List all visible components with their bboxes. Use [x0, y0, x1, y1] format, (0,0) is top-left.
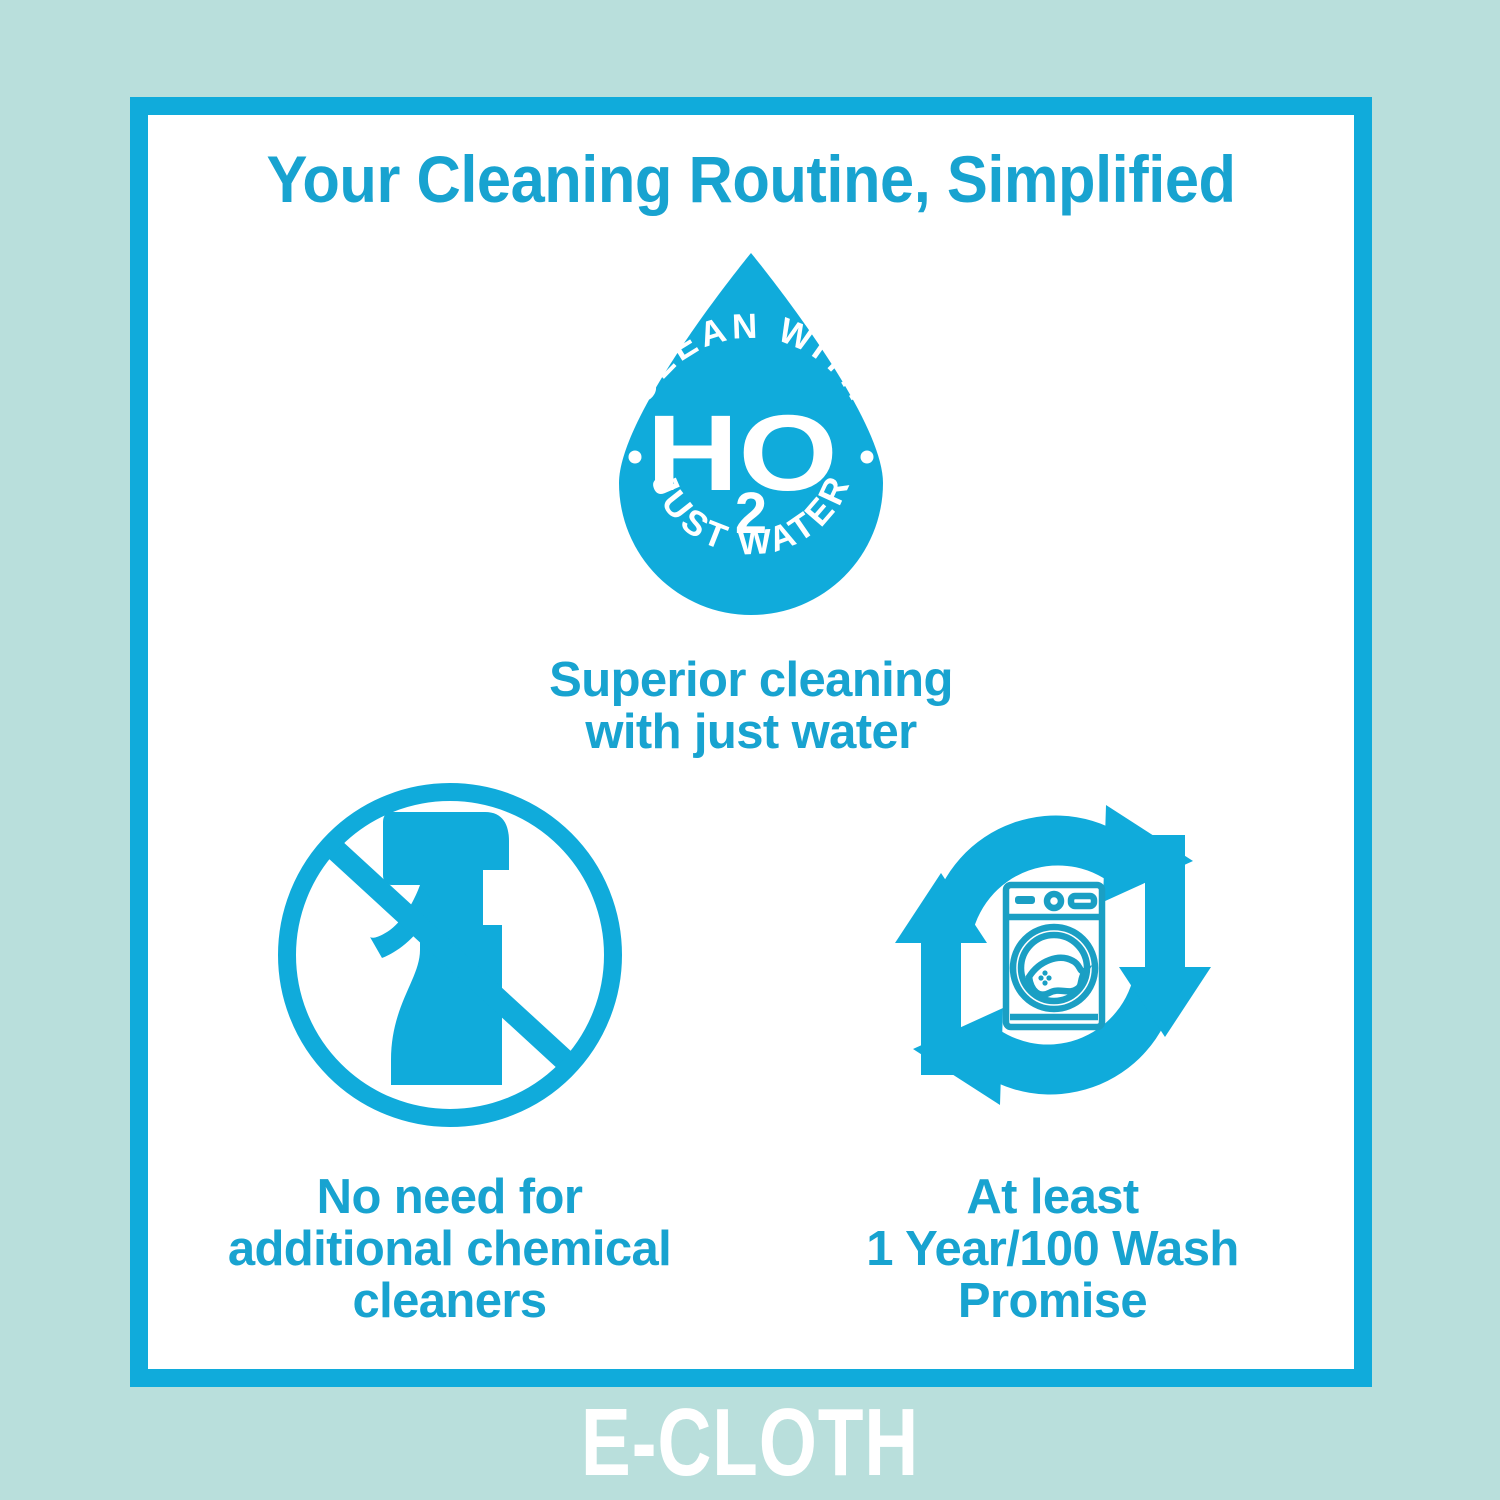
badge-dot-left	[629, 451, 642, 464]
content-panel: Your Cleaning Routine, Simplified CLEAN …	[130, 97, 1372, 1387]
feature-caption-wash-promise: At least 1 Year/100 Wash Promise	[866, 1172, 1238, 1328]
feature-superior-cleaning: CLEAN WITH JUST WATER HO 2 Superior clea…	[148, 245, 1354, 759]
caption-line: cleaners	[228, 1276, 671, 1328]
caption-line: additional chemical	[228, 1224, 671, 1276]
brand-logo: E-CLOTH	[165, 1395, 1335, 1491]
caption-line: Superior cleaning	[549, 655, 953, 707]
page-title: Your Cleaning Routine, Simplified	[190, 145, 1312, 214]
caption-line: Promise	[866, 1276, 1238, 1328]
feature-caption-no-chemicals: No need for additional chemical cleaners	[228, 1172, 671, 1328]
caption-line: 1 Year/100 Wash	[866, 1224, 1238, 1276]
badge-dot-right	[861, 451, 874, 464]
infographic-canvas: Your Cleaning Routine, Simplified CLEAN …	[0, 0, 1500, 1500]
caption-line: No need for	[228, 1172, 671, 1224]
caption-line: with just water	[549, 707, 953, 759]
feature-wash-promise: At least 1 Year/100 Wash Promise	[783, 760, 1323, 1328]
feature-row: No need for additional chemical cleaners	[148, 760, 1354, 1328]
washing-machine-shape	[1006, 885, 1102, 1027]
caption-line: At least	[866, 1172, 1238, 1224]
feature-no-chemicals: No need for additional chemical cleaners	[180, 760, 720, 1328]
no-spray-bottle-icon	[270, 760, 630, 1150]
feature-caption-superior-cleaning: Superior cleaning with just water	[549, 655, 953, 759]
water-drop-h2o-badge-icon: CLEAN WITH JUST WATER HO 2	[591, 245, 911, 645]
recycle-washing-machine-icon	[863, 760, 1243, 1150]
badge-formula-subscript: 2	[735, 481, 767, 546]
